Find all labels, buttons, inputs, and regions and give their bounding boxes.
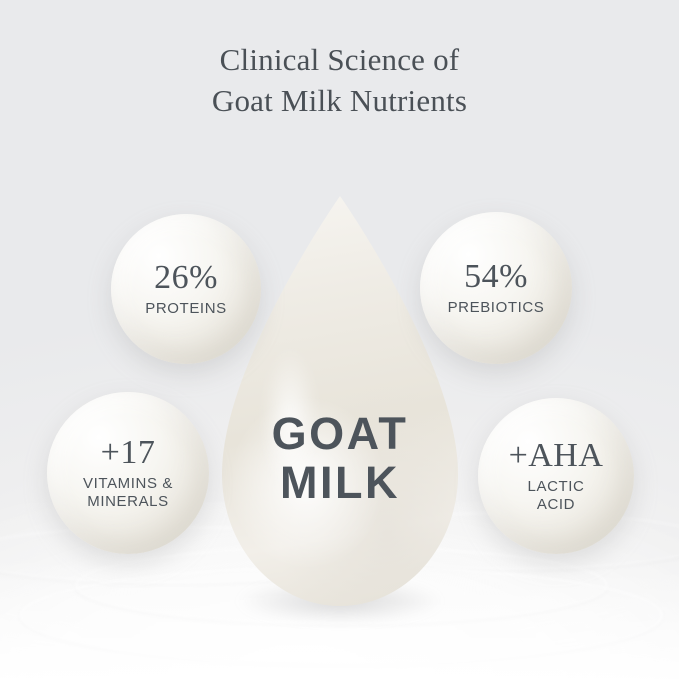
page-title-line-2: Goat Milk Nutrients [0, 81, 679, 122]
stat-label-vitamins-line-2: MINERALS [87, 493, 169, 510]
droplet-label-line-2: MILK [222, 459, 458, 508]
droplet-label: GOAT MILK [222, 410, 458, 507]
stat-bubble-vitamins: +17 VITAMINS & MINERALS [47, 392, 209, 554]
stat-value-proteins: 26% [154, 261, 218, 295]
stat-label-aha-line-1: LACTIC [528, 478, 585, 495]
infographic-scene: Clinical Science of Goat Milk Nutrients … [0, 0, 679, 679]
stat-value-prebiotics: 54% [464, 260, 528, 294]
stat-value-aha: +AHA [509, 439, 604, 473]
milk-droplet: GOAT MILK [222, 196, 458, 606]
stat-bubble-prebiotics: 54% PREBIOTICS [420, 212, 572, 364]
page-title: Clinical Science of Goat Milk Nutrients [0, 40, 679, 122]
stat-label-prebiotics: PREBIOTICS [448, 299, 545, 316]
stat-label-proteins: PROTEINS [145, 300, 226, 317]
page-title-line-1: Clinical Science of [0, 40, 679, 81]
stat-label-aha-line-2: ACID [537, 496, 575, 513]
stat-value-vitamins: +17 [101, 436, 156, 470]
stat-bubble-proteins: 26% PROTEINS [111, 214, 261, 364]
droplet-shape [222, 196, 458, 606]
droplet-label-line-1: GOAT [222, 410, 458, 459]
stat-bubble-aha: +AHA LACTIC ACID [478, 398, 634, 554]
stat-label-vitamins-line-1: VITAMINS & [83, 475, 173, 492]
